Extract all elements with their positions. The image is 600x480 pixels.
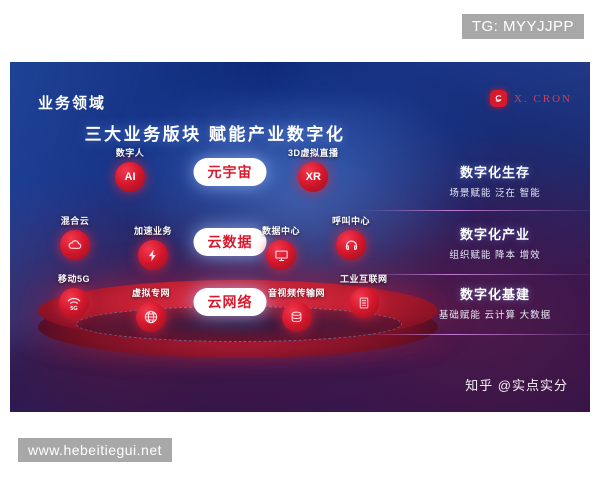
watermark-bottom-left: www.hebeitiegui.net	[18, 438, 172, 462]
info-panel-digital-infrastructure[interactable]: 数字化基建 基础赋能 云计算 大数据	[406, 284, 584, 321]
node-label: 音视频传输网	[268, 286, 325, 299]
node-mobile-5g[interactable]: 移动5G 5G	[58, 272, 90, 318]
node-call-center[interactable]: 呼叫中心	[332, 214, 370, 260]
node-label: 移动5G	[58, 272, 90, 285]
page-kicker: 业务领域	[38, 92, 106, 113]
info-panel-title: 数字化产业	[406, 224, 584, 243]
node-label: 虚拟专网	[132, 286, 170, 299]
server-rack-icon	[266, 240, 296, 270]
brand-swirl-icon	[490, 90, 507, 107]
poster-slide: 业务领域 三大业务版块 赋能产业数字化 X. CRON 元宇宙 数字人 AI 3…	[10, 62, 590, 412]
node-accelerate-business[interactable]: 加速业务	[134, 224, 172, 270]
node-glyph: AI	[125, 171, 136, 183]
lightning-bolt-icon	[138, 240, 168, 270]
brand-name: X. CRON	[514, 93, 572, 105]
node-label: 3D虚拟直播	[288, 146, 339, 159]
info-panel-subtitle: 基础赋能 云计算 大数据	[406, 307, 584, 321]
info-panel-subtitle: 组织赋能 降本 增效	[406, 247, 584, 261]
attribution-text: 知乎 @实点实分	[465, 375, 568, 394]
tier-pill-cloud-network[interactable]: 云网络	[194, 288, 267, 316]
info-panel-digital-living[interactable]: 数字化生存 场景赋能 泛在 智能	[406, 162, 584, 199]
wifi-5g-icon: 5G	[59, 288, 89, 318]
cloud-icon	[60, 230, 90, 260]
xr-text-icon: XR	[298, 162, 328, 192]
node-virtual-private-network[interactable]: 虚拟专网	[132, 286, 170, 332]
divider-streak-1	[360, 210, 590, 211]
node-label: 加速业务	[134, 224, 172, 237]
node-label: 呼叫中心	[332, 214, 370, 227]
node-data-center[interactable]: 数据中心	[262, 224, 300, 270]
info-panel-subtitle: 场景赋能 泛在 智能	[406, 185, 584, 199]
info-panel-title: 数字化基建	[406, 284, 584, 303]
node-av-transmission-network[interactable]: 音视频传输网	[268, 286, 325, 332]
node-label: 数字人	[116, 146, 145, 159]
node-glyph: XR	[306, 171, 321, 183]
tier-pill-metaverse[interactable]: 元宇宙	[194, 158, 267, 186]
document-lines-icon	[349, 288, 379, 318]
node-label: 数据中心	[262, 224, 300, 237]
stacked-disks-icon	[282, 302, 312, 332]
brand-logo: X. CRON	[490, 90, 572, 107]
info-panel-digital-industry[interactable]: 数字化产业 组织赋能 降本 增效	[406, 224, 584, 261]
node-label: 工业互联网	[340, 272, 388, 285]
node-3d-virtual-live[interactable]: 3D虚拟直播 XR	[288, 146, 339, 192]
node-label: 混合云	[61, 214, 90, 227]
node-industrial-internet[interactable]: 工业互联网	[340, 272, 388, 318]
node-digital-human[interactable]: 数字人 AI	[115, 146, 145, 192]
tier-pill-cloud-data[interactable]: 云数据	[194, 228, 267, 256]
node-hybrid-cloud[interactable]: 混合云	[60, 214, 90, 260]
svg-text:5G: 5G	[70, 306, 78, 312]
page-title: 三大业务版块 赋能产业数字化	[10, 120, 590, 145]
ai-text-icon: AI	[115, 162, 145, 192]
info-panel-title: 数字化生存	[406, 162, 584, 181]
watermark-top-right: TG: MYYJJPP	[462, 14, 584, 39]
globe-grid-icon	[136, 302, 166, 332]
headset-icon	[336, 230, 366, 260]
